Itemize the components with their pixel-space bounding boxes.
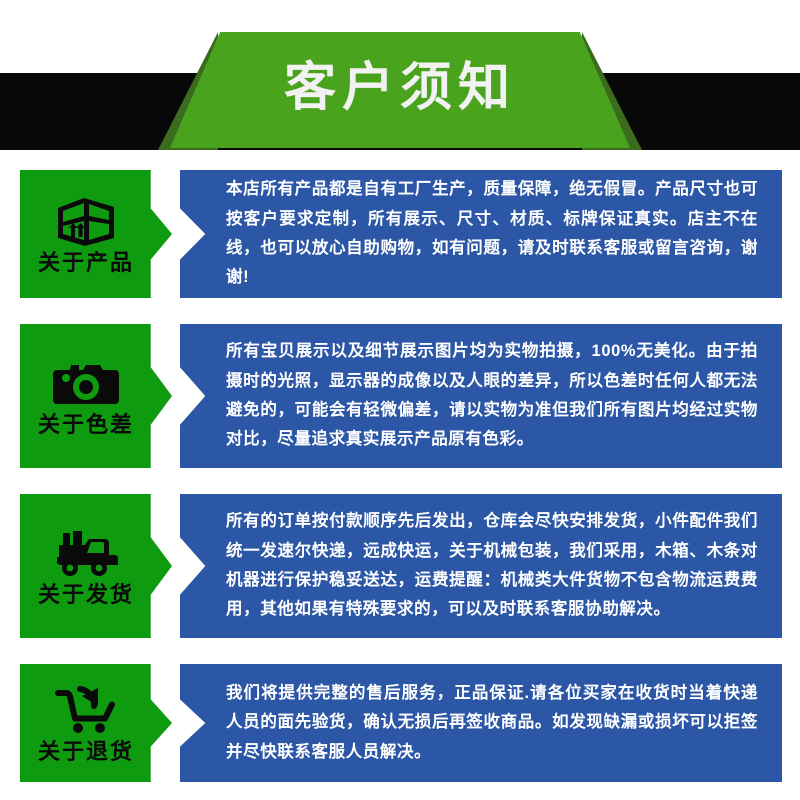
- notice-panel: 本店所有产品都是自有工厂生产，质量保障，绝无假冒。产品尺寸也可按客户要求定制，所…: [180, 170, 782, 298]
- notice-text: 我们将提供完整的售后服务，正品保证.请各位买家在收货时当着快递人员的面先验货，确…: [226, 679, 758, 767]
- notice-text: 本店所有产品都是自有工厂生产，质量保障，绝无假冒。产品尺寸也可按客户要求定制，所…: [226, 175, 758, 292]
- badge-label: 关于退货: [38, 740, 134, 764]
- badge-label: 关于发货: [38, 583, 134, 607]
- page-title: 客户须知: [284, 62, 516, 118]
- notice-panel: 所有宝贝展示以及细节展示图片均为实物拍摄，100%无美化。由于拍摄时的光照，显示…: [180, 324, 782, 468]
- notice-panel: 所有的订单按付款顺序先后发出，仓库会尽快安排发货，小件配件我们统一发速尔快递，远…: [180, 494, 782, 638]
- badge-about-return[interactable]: 关于退货: [20, 664, 172, 782]
- notice-sections: 关于产品 本店所有产品都是自有工厂生产，质量保障，绝无假冒。产品尺寸也可按客户要…: [0, 170, 800, 782]
- badge-label: 关于色差: [38, 413, 134, 437]
- notice-section-return: 关于退货 我们将提供完整的售后服务，正品保证.请各位买家在收货时当着快递人员的面…: [0, 664, 800, 782]
- badge-label: 关于产品: [38, 251, 134, 275]
- notice-panel: 我们将提供完整的售后服务，正品保证.请各位买家在收货时当着快递人员的面先验货，确…: [180, 664, 782, 782]
- badge-about-shipping[interactable]: 关于发货: [20, 494, 172, 638]
- notice-text: 所有的订单按付款顺序先后发出，仓库会尽快安排发货，小件配件我们统一发速尔快递，远…: [226, 507, 758, 624]
- notice-text: 所有宝贝展示以及细节展示图片均为实物拍摄，100%无美化。由于拍摄时的光照，显示…: [226, 337, 758, 454]
- package-box-icon: [49, 193, 123, 249]
- delivery-truck-icon: [49, 525, 123, 581]
- notice-section-product: 关于产品 本店所有产品都是自有工厂生产，质量保障，绝无假冒。产品尺寸也可按客户要…: [0, 170, 800, 298]
- header-banner: 客户须知: [0, 0, 800, 170]
- notice-section-color: 关于色差 所有宝贝展示以及细节展示图片均为实物拍摄，100%无美化。由于拍摄时的…: [0, 324, 800, 468]
- badge-about-color[interactable]: 关于色差: [20, 324, 172, 468]
- badge-about-product[interactable]: 关于产品: [20, 170, 172, 298]
- notice-section-shipping: 关于发货 所有的订单按付款顺序先后发出，仓库会尽快安排发货，小件配件我们统一发速…: [0, 494, 800, 638]
- return-cart-icon: [49, 682, 123, 738]
- ribbon-main: 客户须知: [170, 32, 630, 148]
- camera-icon: [49, 355, 123, 411]
